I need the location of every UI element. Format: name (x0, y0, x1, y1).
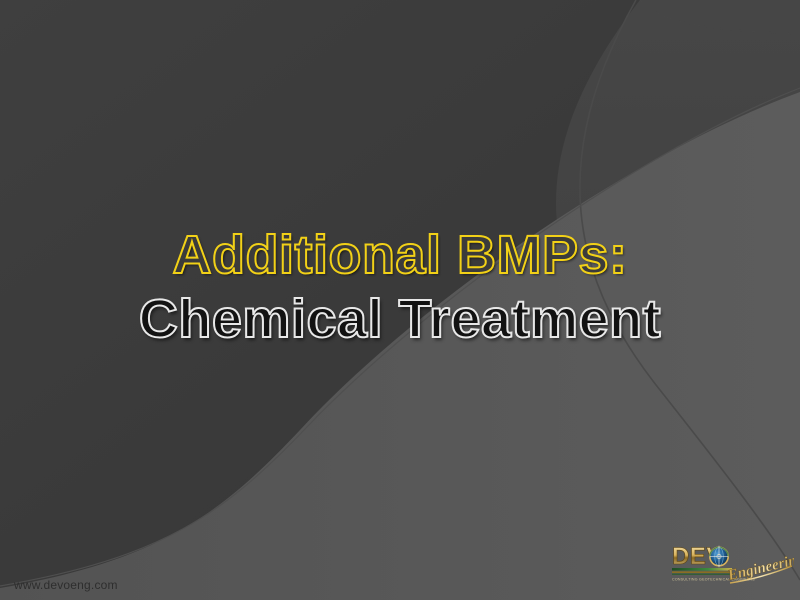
slide-title: Additional BMPs: Chemical Treatment (0, 228, 800, 346)
logo-bar-gold (672, 571, 732, 573)
logo-bar-green-thin (672, 574, 732, 575)
svg-text:Engineering: Engineering (725, 551, 794, 584)
footer-website-url: www.devoeng.com (14, 578, 118, 592)
devo-engineering-logo: DEV CONSULTING GEOTECHNICAL ENGINEERS En… (668, 536, 794, 590)
title-line-secondary: Chemical Treatment (0, 292, 800, 346)
title-line-primary: Additional BMPs: (0, 228, 800, 286)
logo-bar-green (672, 568, 732, 571)
logo-artwork: DEV CONSULTING GEOTECHNICAL ENGINEERS En… (668, 536, 794, 590)
globe-icon (710, 546, 728, 567)
logo-script-word: Engineering (725, 551, 794, 584)
presentation-slide: Additional BMPs: Chemical Treatment www.… (0, 0, 800, 600)
